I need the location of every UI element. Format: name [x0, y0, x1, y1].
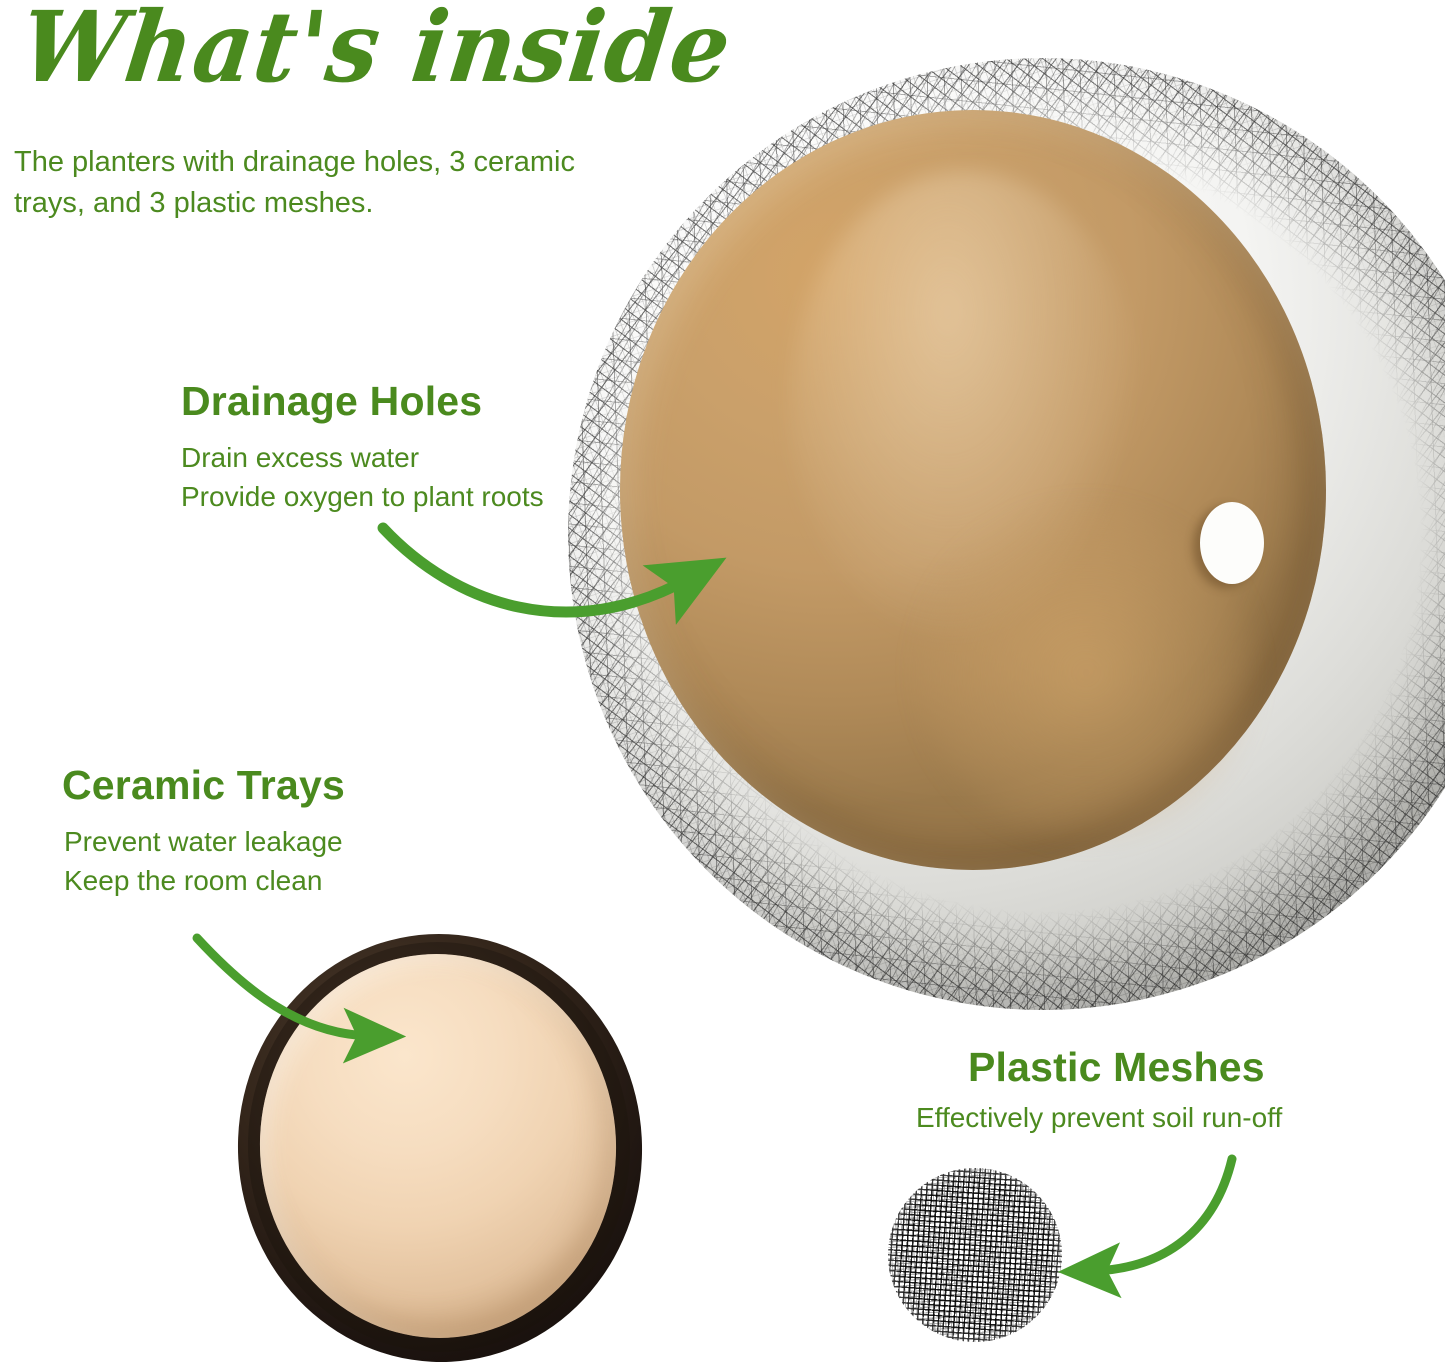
drainage-hole: [1200, 502, 1264, 584]
ceramic-tray-image: [238, 934, 642, 1362]
feature-ceramic-trays: Ceramic Trays Prevent water leakage Keep…: [62, 762, 345, 900]
feature-heading-ceramic-trays: Ceramic Trays: [62, 762, 345, 809]
feature-line: Keep the room clean: [64, 862, 345, 901]
feature-lines-ceramic-trays: Prevent water leakage Keep the room clea…: [62, 823, 345, 900]
feature-line: Effectively prevent soil run-off: [916, 1099, 1282, 1138]
feature-lines-plastic-meshes: Effectively prevent soil run-off: [916, 1099, 1282, 1138]
mesh-edge-fade: [888, 1168, 1062, 1342]
feature-plastic-meshes: Plastic Meshes Effectively prevent soil …: [968, 1044, 1282, 1138]
feature-heading-plastic-meshes: Plastic Meshes: [968, 1044, 1282, 1091]
infographic-canvas: What's inside The planters with drainage…: [0, 0, 1445, 1367]
feature-lines-drainage-holes: Drain excess water Provide oxygen to pla…: [181, 439, 544, 516]
planter-exterior: [568, 58, 1445, 1010]
planter-image: [568, 58, 1445, 1010]
page-subtitle: The planters with drainage holes, 3 cera…: [14, 142, 614, 224]
feature-line: Provide oxygen to plant roots: [181, 478, 544, 517]
feature-line: Drain excess water: [181, 439, 544, 478]
plastic-mesh-image: [888, 1168, 1062, 1342]
feature-heading-drainage-holes: Drainage Holes: [181, 378, 544, 425]
feature-line: Prevent water leakage: [64, 823, 345, 862]
planter-interior: [620, 110, 1326, 870]
arrow-to-plastic-mesh: [1092, 1159, 1232, 1271]
page-title: What's inside: [15, 0, 736, 98]
feature-drainage-holes: Drainage Holes Drain excess water Provid…: [181, 378, 544, 516]
